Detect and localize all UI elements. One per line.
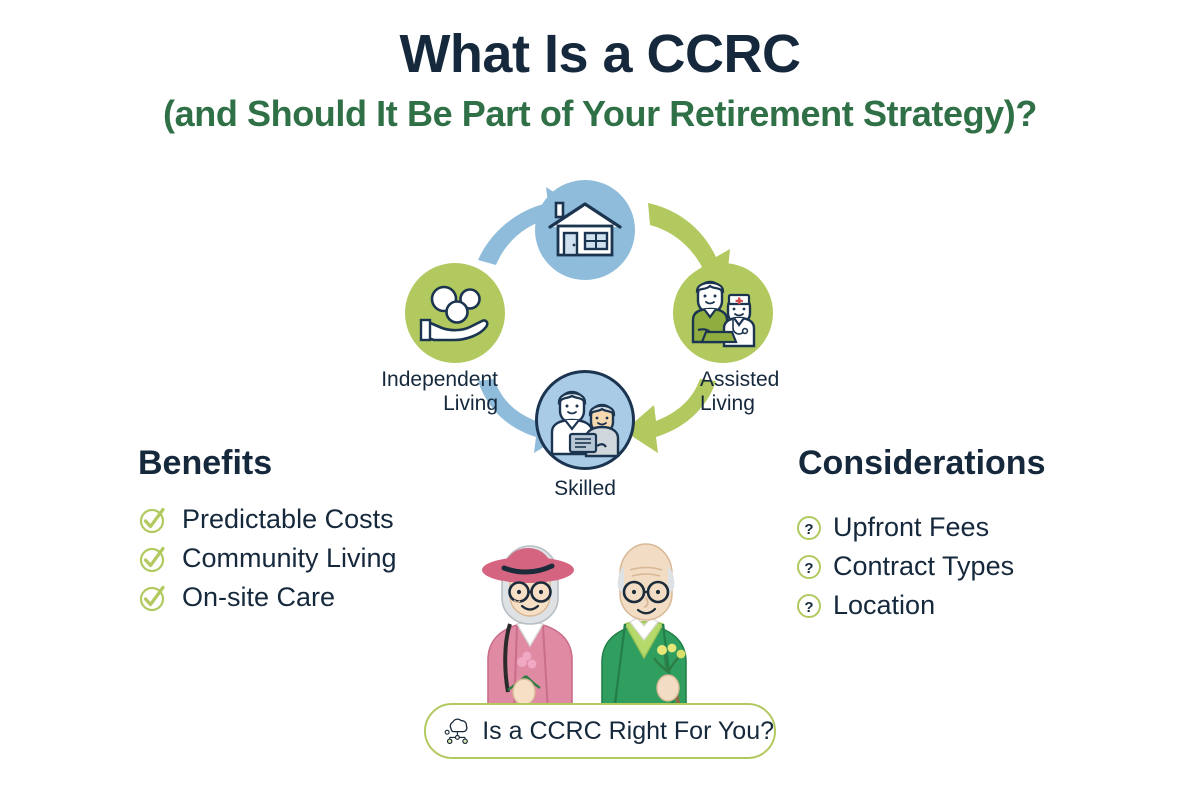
hand-holding-icon bbox=[418, 282, 492, 344]
cta-text: Is a CCRC Right For You? bbox=[482, 717, 774, 746]
question-circle-icon: ? bbox=[796, 593, 822, 619]
list-item: ? Upfront Fees bbox=[796, 508, 1014, 547]
cycle-node-assisted-living bbox=[673, 263, 773, 363]
care-continuum-cycle-diagram: Independent Living Assisted Living Skill… bbox=[380, 165, 820, 525]
benefits-heading: Benefits bbox=[138, 444, 272, 483]
considerations-list: ? Upfront Fees ? Contract Types ? Locati… bbox=[796, 508, 1014, 625]
benefit-label: Community Living bbox=[182, 543, 397, 574]
cycle-node-skilled-nursing bbox=[535, 370, 635, 470]
cycle-label-skilled: Skilled bbox=[520, 477, 650, 501]
label-line-1: Independent bbox=[381, 368, 498, 391]
label-line-2: Living bbox=[700, 392, 755, 415]
cta-banner[interactable]: Is a CCRC Right For You? bbox=[424, 703, 776, 759]
label-line-1: Assisted bbox=[700, 368, 779, 391]
label-line-2: Living bbox=[443, 392, 498, 415]
house-icon bbox=[547, 197, 623, 263]
list-item: On-site Care bbox=[138, 578, 397, 617]
svg-text:?: ? bbox=[804, 560, 813, 577]
cycle-node-independent-living bbox=[405, 263, 505, 363]
benefit-label: Predictable Costs bbox=[182, 504, 394, 535]
benefits-list: Predictable Costs Community Living On-si… bbox=[138, 500, 397, 617]
question-circle-icon: ? bbox=[796, 515, 822, 541]
check-circle-icon bbox=[138, 583, 168, 613]
check-circle-icon bbox=[138, 505, 168, 535]
question-circle-icon: ? bbox=[796, 554, 822, 580]
consideration-label: Location bbox=[833, 590, 935, 621]
cycle-label-assisted-living: Assisted Living bbox=[700, 368, 820, 415]
benefit-label: On-site Care bbox=[182, 582, 335, 613]
page-subtitle: (and Should It Be Part of Your Retiremen… bbox=[0, 94, 1200, 134]
check-circle-icon bbox=[138, 544, 168, 574]
cycle-label-independent-living: Independent Living bbox=[370, 368, 498, 415]
list-item: Predictable Costs bbox=[138, 500, 397, 539]
consideration-label: Contract Types bbox=[833, 551, 1014, 582]
nurse-resident-icon bbox=[544, 382, 626, 458]
list-item: ? Contract Types bbox=[796, 547, 1014, 586]
svg-text:?: ? bbox=[804, 521, 813, 538]
infographic-canvas: What Is a CCRC (and Should It Be Part of… bbox=[0, 0, 1200, 800]
elderly-couple-illustration bbox=[462, 512, 738, 712]
consideration-label: Upfront Fees bbox=[833, 512, 989, 543]
page-title: What Is a CCRC bbox=[0, 26, 1200, 83]
list-item: Community Living bbox=[138, 539, 397, 578]
list-item: ? Location bbox=[796, 586, 1014, 625]
considerations-heading: Considerations bbox=[798, 444, 1045, 483]
cloud-network-icon bbox=[442, 711, 470, 751]
svg-text:?: ? bbox=[804, 599, 813, 616]
cycle-node-house bbox=[535, 180, 635, 280]
caregiver-nurse-icon bbox=[684, 276, 762, 350]
